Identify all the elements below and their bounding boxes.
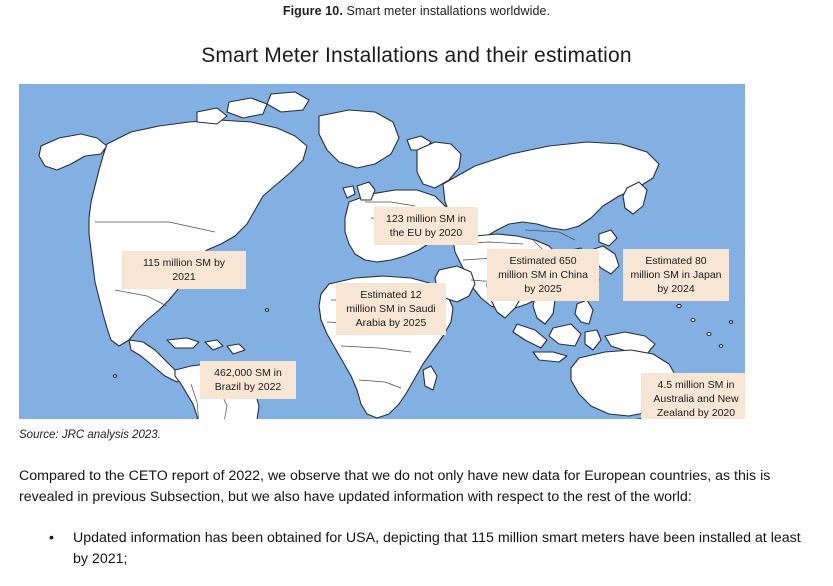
- list-item: •Updated information has been obtained f…: [19, 528, 803, 570]
- bullet-list: •Updated information has been obtained f…: [19, 528, 803, 570]
- callout-brazil: 462,000 SM in Brazil by 2022: [200, 361, 296, 399]
- callout-saudi-arabia: Estimated 12 million SM in Saudi Arabia …: [336, 283, 446, 335]
- landmass-arctic-islands-2: [267, 92, 309, 112]
- figure-caption: Figure 10. Smart meter installations wor…: [0, 4, 833, 18]
- landmass-ireland: [343, 186, 355, 198]
- body-paragraph: Compared to the CETO report of 2022, we …: [19, 466, 803, 508]
- landmass-uk: [357, 182, 375, 200]
- island-dot-6: [729, 321, 732, 324]
- landmass-caribbean-3: [227, 344, 245, 354]
- list-item-text: Updated information has been obtained fo…: [73, 530, 801, 567]
- landmass-sumatra: [513, 324, 547, 348]
- island-dot-3: [707, 333, 711, 336]
- landmass-madagascar: [423, 366, 437, 390]
- landmass-japan-hokkaido: [599, 230, 617, 246]
- landmass-caribbean-2: [205, 340, 223, 350]
- island-dot-4: [719, 345, 723, 348]
- callout-eu: 123 million SM in the EU by 2020: [374, 207, 478, 245]
- callout-australia-new-zealand: 4.5 million SM in Australia and New Zeal…: [641, 373, 745, 419]
- island-dot-1: [677, 304, 681, 307]
- callout-japan: Estimated 80 million SM in Japan by 2024: [623, 249, 729, 301]
- landmass-borneo: [549, 324, 581, 346]
- callout-usa: 115 million SM by 2021: [122, 251, 246, 289]
- source-line: Source: JRC analysis 2023.: [19, 429, 161, 441]
- figure-caption-label: Figure 10.: [283, 4, 343, 18]
- border-mongolia: [525, 230, 575, 240]
- landmass-arctic-islands-1: [227, 98, 267, 118]
- chart-title: Smart Meter Installations and their esti…: [0, 44, 833, 68]
- world-map-figure: 115 million SM by 2021 123 million SM in…: [19, 84, 745, 419]
- landmass-java: [533, 352, 567, 362]
- island-dot-7: [265, 309, 268, 312]
- landmass-sulawesi: [585, 330, 601, 350]
- island-dot-2: [691, 319, 695, 322]
- island-dot-8: [113, 375, 116, 378]
- callout-china: Estimated 650 million SM in China by 202…: [487, 249, 599, 301]
- landmass-philippines: [575, 300, 593, 324]
- figure-caption-text: Smart meter installations worldwide.: [343, 4, 550, 18]
- landmass-alaska: [39, 134, 107, 170]
- landmass-greenland: [319, 110, 399, 168]
- landmass-caribbean-1: [167, 338, 199, 348]
- landmass-north-america: [89, 120, 307, 346]
- bullet-dot-icon: •: [49, 528, 54, 549]
